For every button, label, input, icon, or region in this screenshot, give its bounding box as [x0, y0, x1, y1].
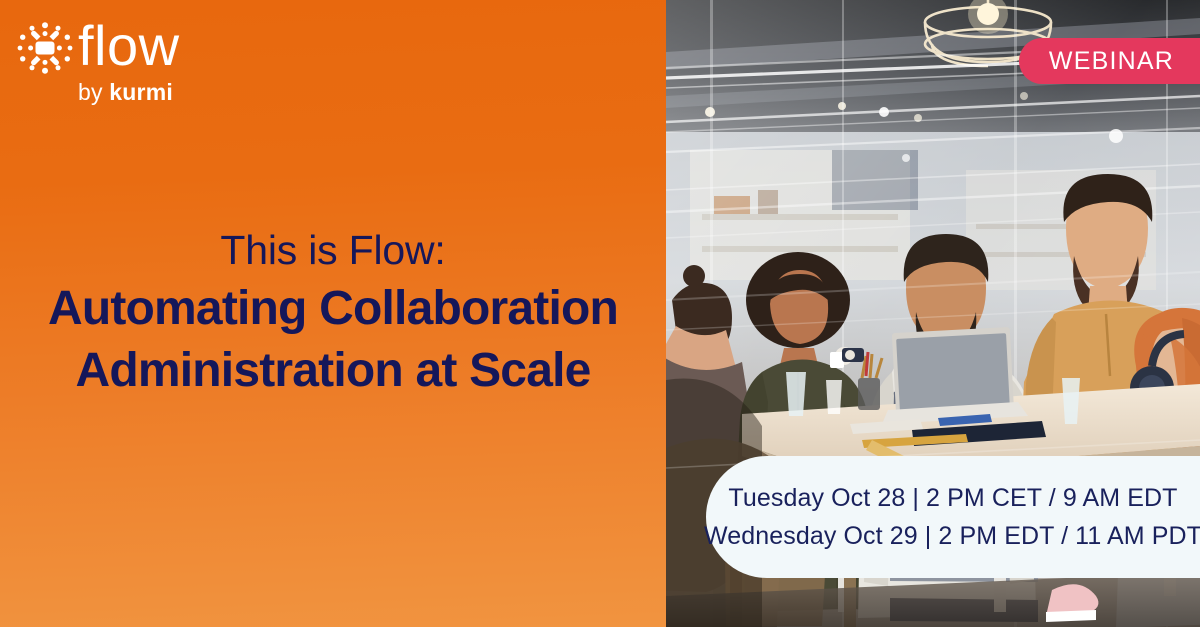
webinar-badge-label: WEBINAR: [1049, 47, 1174, 76]
brand-byline: by kurmi: [78, 79, 173, 105]
session-line-1: Tuesday Oct 28 | 2 PM CET / 9 AM EDT: [728, 479, 1177, 517]
parent-brand-name: kurmi: [109, 79, 173, 105]
webinar-badge: WEBINAR: [1019, 38, 1200, 84]
headline-line-2: Administration at Scale: [0, 340, 666, 402]
headline-kicker: This is Flow:: [0, 222, 666, 278]
headline-block: This is Flow: Automating Collaboration A…: [0, 222, 666, 402]
flow-starburst-icon: [16, 19, 74, 77]
left-orange-panel: flow by kurmi This is Flow: Automating C…: [0, 0, 666, 627]
headline-line-1: Automating Collaboration: [0, 278, 666, 340]
schedule-card: Tuesday Oct 28 | 2 PM CET / 9 AM EDT Wed…: [706, 456, 1200, 578]
webinar-promo-banner: flow by kurmi This is Flow: Automating C…: [0, 0, 1200, 627]
brand-name: flow: [78, 12, 180, 80]
byline-prefix: by: [78, 79, 109, 105]
brand-logo[interactable]: flow by kurmi: [16, 17, 226, 109]
session-line-2: Wednesday Oct 29 | 2 PM EDT / 11 AM PDT: [704, 517, 1200, 555]
